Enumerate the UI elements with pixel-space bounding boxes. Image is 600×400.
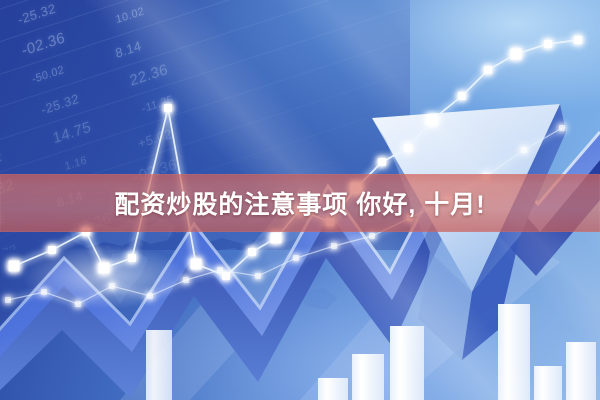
chart-node-marker bbox=[5, 297, 11, 303]
chart-node-marker bbox=[521, 147, 527, 153]
chart-node-marker bbox=[128, 254, 136, 262]
chart-node-marker bbox=[217, 267, 223, 273]
chart-node-marker bbox=[109, 283, 115, 289]
chart-node-marker bbox=[164, 104, 172, 112]
chart-node-marker bbox=[255, 273, 261, 279]
chart-node-marker bbox=[191, 259, 202, 270]
banner-title-text: 配资炒股的注意事项 你好, 十月! bbox=[114, 185, 485, 221]
chart-series-line bbox=[14, 40, 578, 276]
chart-node-marker bbox=[147, 293, 153, 299]
chart-node-marker bbox=[331, 243, 337, 249]
chart-node-marker bbox=[99, 263, 110, 274]
chart-node-marker bbox=[75, 301, 81, 307]
chart-node-marker bbox=[48, 246, 56, 254]
chart-node-marker bbox=[41, 289, 47, 295]
chart-node-marker bbox=[427, 115, 438, 126]
title-banner: 配资炒股的注意事项 你好, 十月! bbox=[0, 174, 600, 232]
chart-node-marker bbox=[183, 277, 189, 283]
chart-node-marker bbox=[248, 248, 256, 256]
chart-node-marker bbox=[484, 66, 492, 74]
chart-node-marker bbox=[458, 92, 466, 100]
chart-node-marker bbox=[574, 36, 582, 44]
chart-node-marker bbox=[293, 255, 299, 261]
chart-node-marker bbox=[222, 272, 230, 280]
chart-node-marker bbox=[378, 158, 386, 166]
chart-node-marker bbox=[369, 233, 375, 239]
stock-banner-image: -02.36-11.25+5.02-50.02-02.3621.05-25.32… bbox=[0, 0, 600, 400]
chart-node-marker bbox=[404, 144, 412, 152]
chart-node-marker bbox=[9, 261, 20, 272]
chart-node-marker bbox=[271, 233, 282, 244]
chart-node-marker bbox=[559, 125, 565, 131]
chart-node-marker bbox=[511, 49, 522, 60]
chart-node-marker bbox=[544, 40, 552, 48]
